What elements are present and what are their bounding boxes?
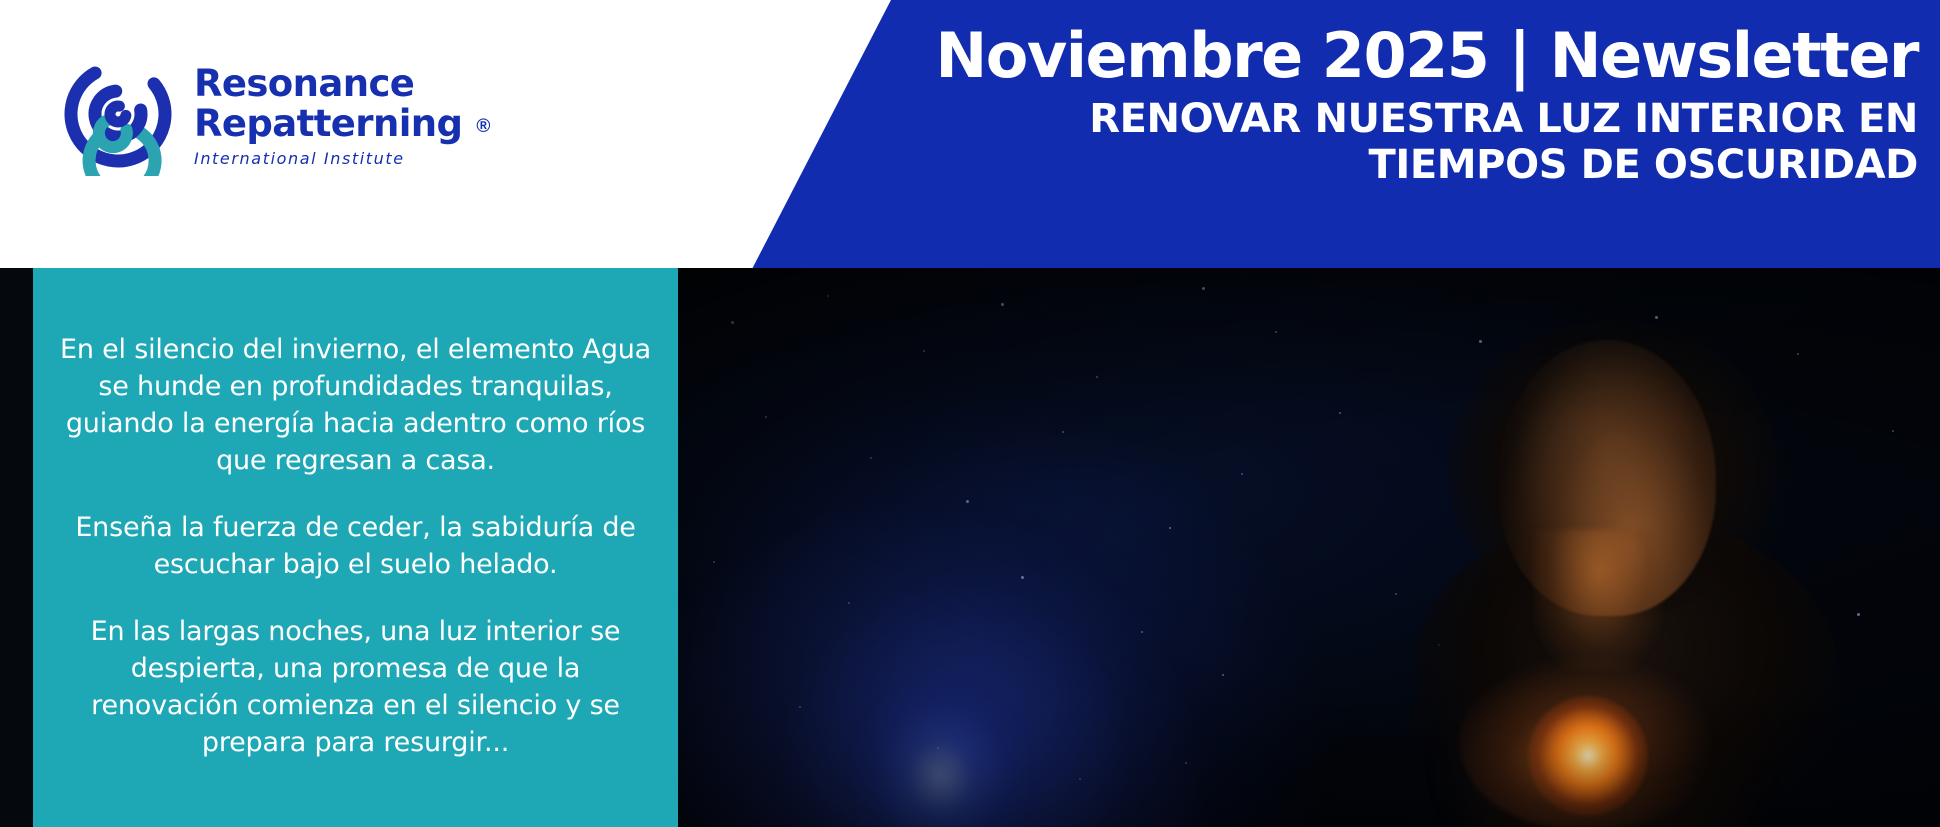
registered-trademark-icon: ®	[476, 116, 490, 138]
brand-name-line-1: Resonance	[194, 64, 462, 104]
sidebar-copy: En el silencio del invierno, el elemento…	[56, 331, 656, 765]
brand-logo[interactable]: Resonance Repatterning ® International I…	[56, 52, 462, 176]
page-header: Resonance Repatterning ® International I…	[0, 0, 1940, 268]
header-text-block: Noviembre 2025 | Newsletter RENOVAR NUES…	[818, 22, 1918, 188]
left-dark-gutter	[0, 268, 33, 827]
page-body: En el silencio del invierno, el elemento…	[0, 268, 1940, 827]
nebula-cluster	[855, 682, 1025, 827]
figure-silhouette	[1320, 268, 1940, 827]
newsletter-banner: Resonance Repatterning ® International I…	[0, 0, 1940, 827]
hero-image	[678, 268, 1940, 827]
newsletter-title: Noviembre 2025 | Newsletter	[818, 22, 1918, 90]
brand-wordmark: Resonance Repatterning ® International I…	[194, 60, 462, 168]
newsletter-subtitle: RENOVAR NUESTRA LUZ INTERIOR EN TIEMPOS …	[818, 96, 1918, 188]
sidebar-paragraph-1: En el silencio del invierno, el elemento…	[56, 331, 656, 479]
brand-tagline: International Institute	[194, 149, 462, 168]
sidebar-text-panel: En el silencio del invierno, el elemento…	[33, 268, 678, 827]
figure-neck	[1534, 530, 1662, 670]
sidebar-paragraph-3: En las largas noches, una luz interior s…	[56, 613, 656, 761]
newsletter-subtitle-line-2: TIEMPOS DE OSCURIDAD	[818, 142, 1918, 188]
double-spiral-logo-icon	[56, 52, 180, 176]
newsletter-subtitle-line-1: RENOVAR NUESTRA LUZ INTERIOR EN	[818, 96, 1918, 142]
heart-light-icon	[1528, 696, 1648, 816]
brand-name-line-2: Repatterning	[194, 104, 462, 144]
sidebar-paragraph-2: Enseña la fuerza de ceder, la sabiduría …	[56, 509, 656, 583]
